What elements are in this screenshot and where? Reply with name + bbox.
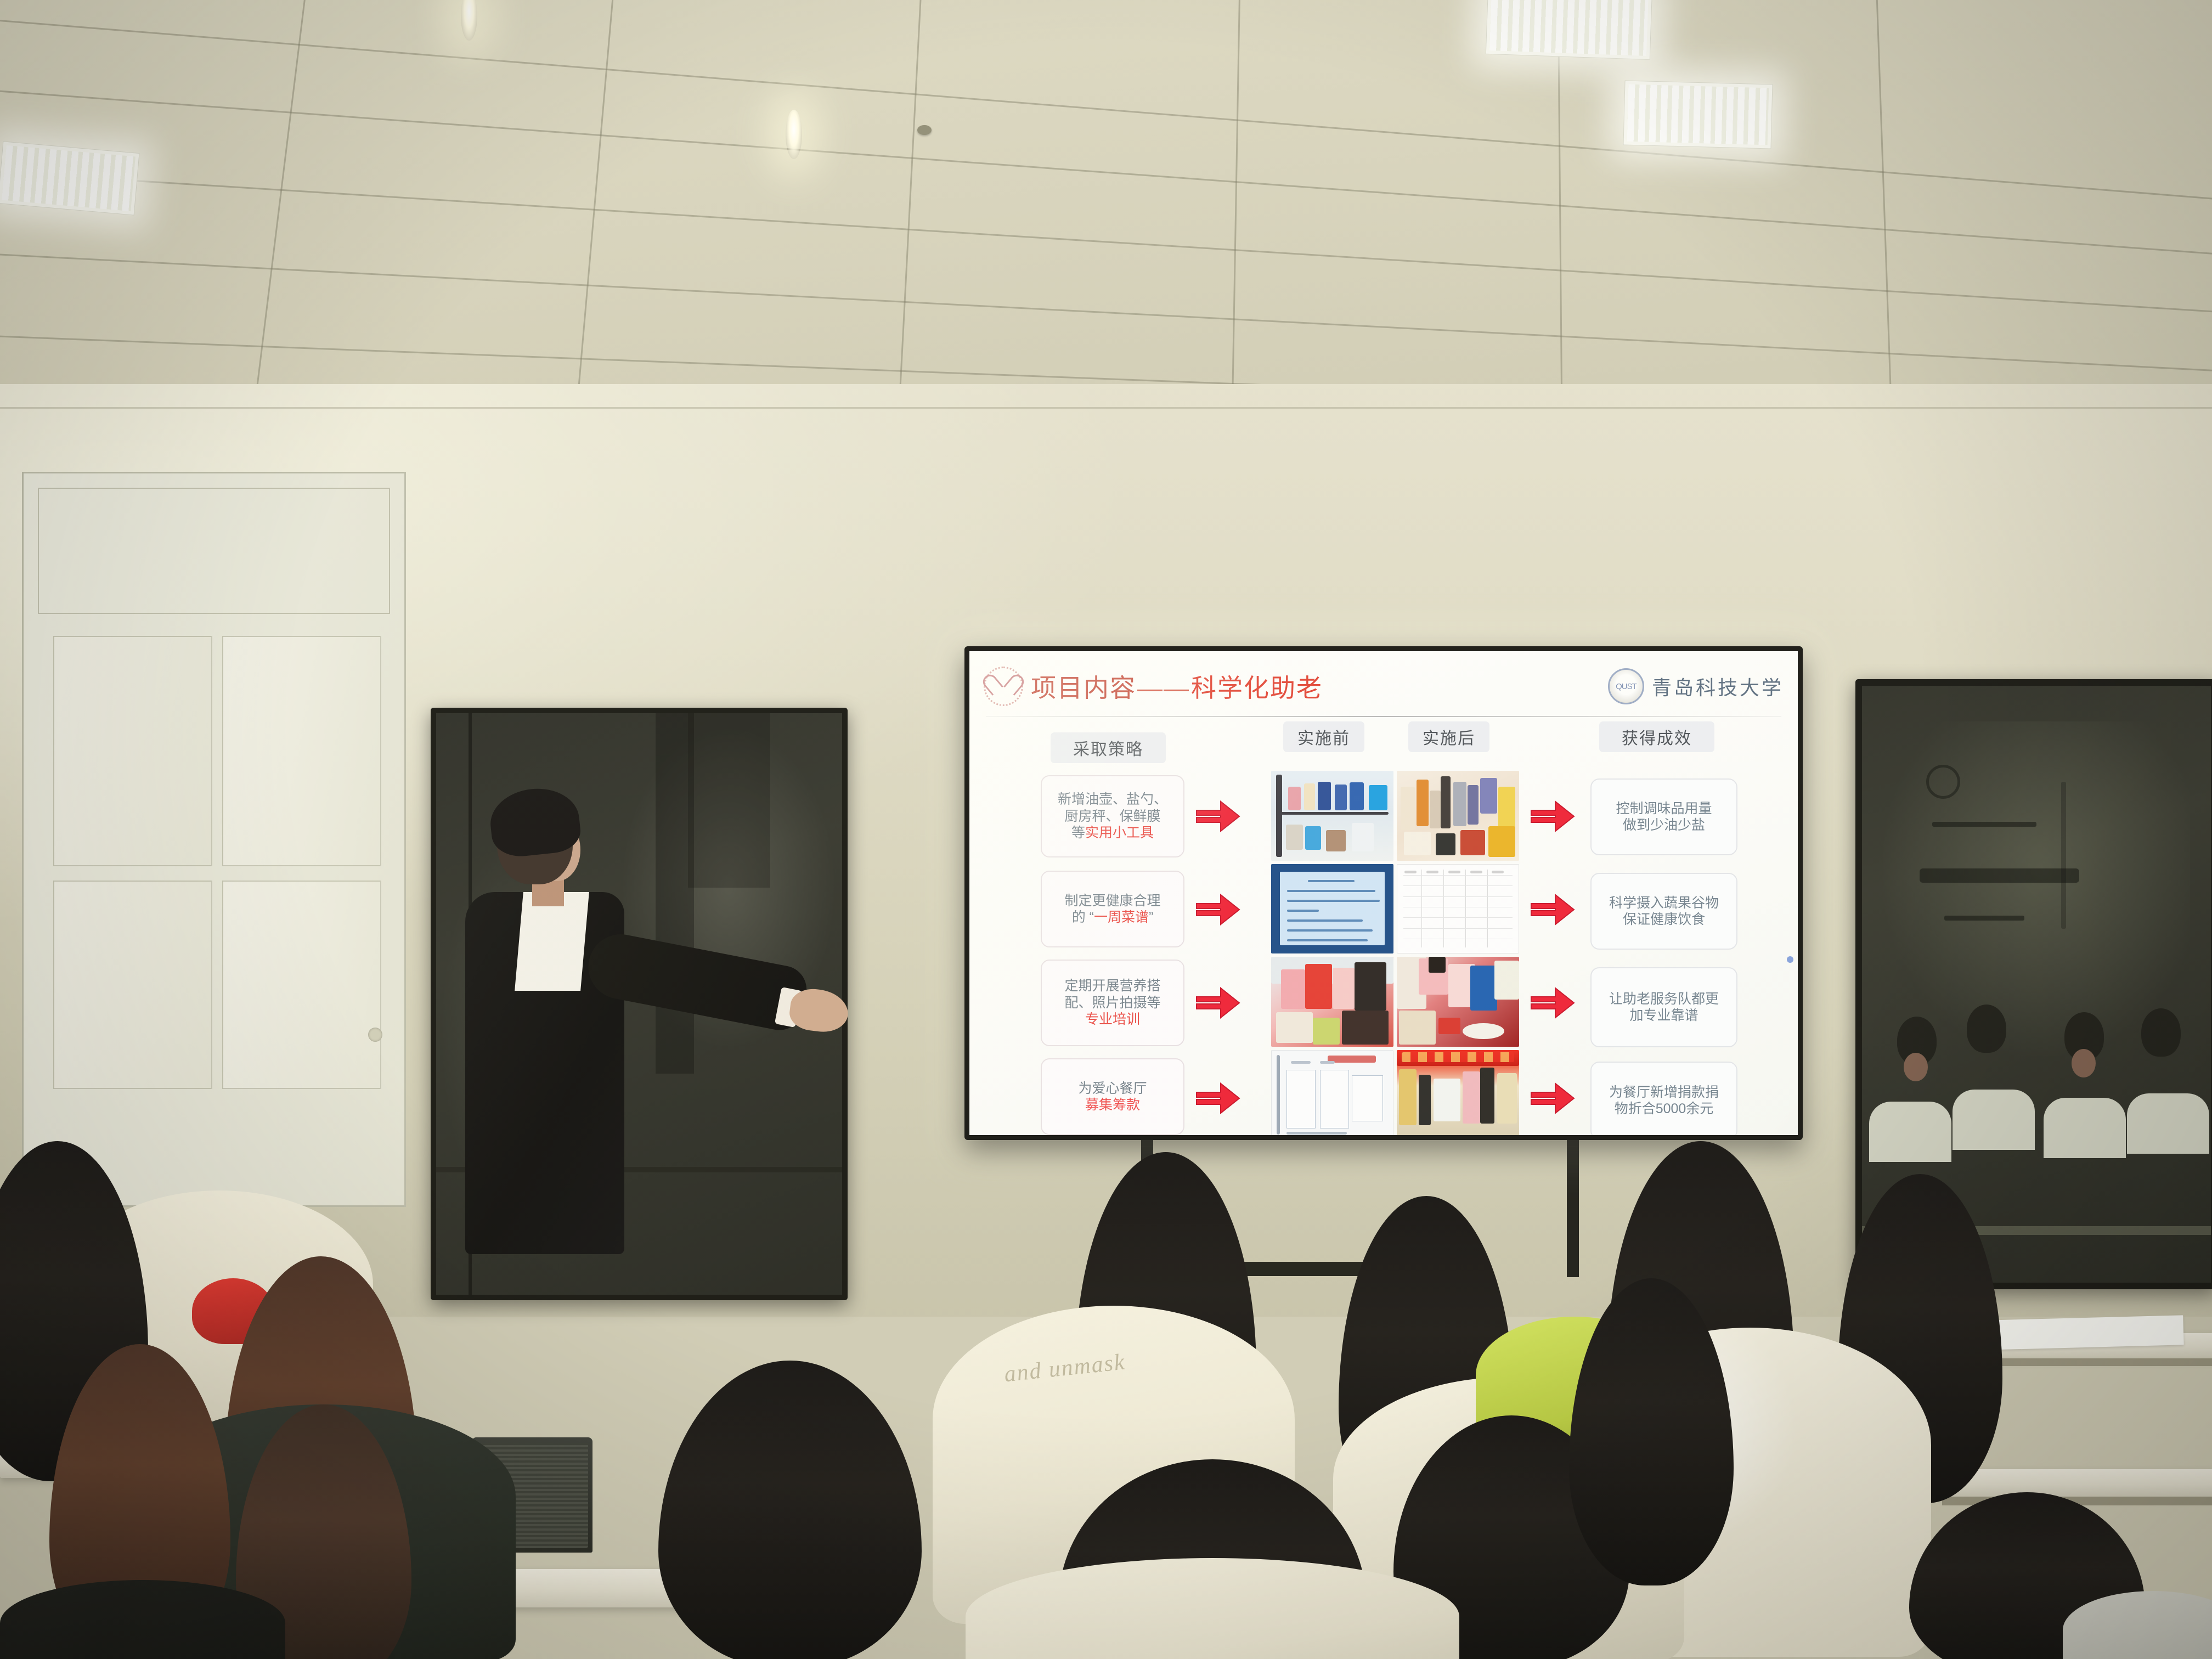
door-panel bbox=[222, 636, 381, 866]
strategy-line: 制定更健康合理 bbox=[1064, 893, 1160, 910]
result-card: 科学摄入蔬果谷物 保证健康饮食 bbox=[1590, 873, 1737, 950]
door-panel bbox=[222, 881, 381, 1089]
result-line: 科学摄入蔬果谷物 bbox=[1609, 895, 1719, 912]
right-arrow-icon bbox=[1195, 891, 1242, 928]
photo-group-event bbox=[1271, 957, 1393, 1047]
presenter bbox=[450, 785, 845, 1300]
slide-title-dash: —— bbox=[1137, 674, 1190, 702]
presenter-shirt bbox=[515, 892, 589, 991]
right-arrow-icon bbox=[1530, 891, 1576, 928]
strategy-card: 新增油壶、盐勺、 厨房秤、保鲜膜 等实用小工具 bbox=[1041, 775, 1184, 857]
panel-audience-reflection bbox=[1862, 996, 2211, 1199]
door-knob-icon[interactable] bbox=[368, 1028, 382, 1042]
strategy-emphasis: 一周菜谱 bbox=[1094, 910, 1149, 925]
tv-stand-leg bbox=[1567, 1140, 1579, 1277]
smoke-detector-icon bbox=[917, 125, 932, 135]
photo-volunteer-elder bbox=[1397, 957, 1519, 1047]
strategy-emphasis: 募集筹款 bbox=[1085, 1097, 1140, 1114]
photo-counter-items bbox=[1397, 771, 1519, 861]
right-arrow-icon bbox=[1195, 798, 1242, 834]
strategy-card: 为爱心餐厅 募集筹款 bbox=[1041, 1058, 1184, 1135]
slide-title-prefix: 项目内容 bbox=[1031, 674, 1136, 702]
whiteboard bbox=[1280, 872, 1385, 945]
strategy-line: 等 bbox=[1071, 825, 1085, 840]
photo-printed-menu-table bbox=[1397, 864, 1519, 954]
student-front-left bbox=[658, 1361, 922, 1659]
door-transom bbox=[38, 488, 390, 614]
door-panel bbox=[53, 881, 212, 1089]
strategy-line: 配、照片拍摄等 bbox=[1064, 995, 1160, 1012]
result-line: 物折合5000余元 bbox=[1615, 1101, 1714, 1118]
ceiling-spot-light bbox=[461, 0, 477, 41]
student-green-jacket bbox=[1569, 1278, 1734, 1585]
right-arrow-icon bbox=[1195, 1080, 1242, 1116]
column-header-after: 实施后 bbox=[1408, 721, 1489, 752]
slide: 项目内容——科学化助老 青岛科技大学 采取策略 实施前 实施后 获得成效 新增油… bbox=[969, 651, 1798, 1135]
hair bbox=[658, 1361, 922, 1659]
column-header-results: 获得成效 bbox=[1599, 721, 1714, 752]
photo-certificate bbox=[1271, 1050, 1393, 1136]
result-line: 加专业靠谱 bbox=[1629, 1007, 1698, 1024]
strategy-line: 的 “ bbox=[1072, 910, 1094, 925]
presenter-hand bbox=[788, 986, 850, 1035]
door-panel bbox=[53, 636, 212, 866]
ceiling-light-panel bbox=[0, 141, 139, 215]
result-line: 保证健康饮食 bbox=[1623, 911, 1705, 928]
result-card: 为餐厅新增捐款捐 物折合5000余元 bbox=[1590, 1062, 1737, 1135]
result-line: 为餐厅新增捐款捐 bbox=[1609, 1084, 1719, 1101]
heart-circle-icon bbox=[984, 667, 1023, 706]
presenter-hair bbox=[487, 785, 583, 859]
slide-title-main: 科学化助老 bbox=[1191, 674, 1323, 702]
column-header-before: 实施前 bbox=[1283, 721, 1364, 752]
slide-header: 项目内容——科学化助老 青岛科技大学 bbox=[984, 660, 1784, 713]
presentation-display: 项目内容——科学化助老 青岛科技大学 采取策略 实施前 实施后 获得成效 新增油… bbox=[964, 646, 1803, 1140]
photo-grid bbox=[1271, 771, 1519, 1135]
photo-blue-board-menu bbox=[1271, 864, 1393, 954]
ceiling-spot-light bbox=[786, 110, 802, 159]
classroom-door[interactable] bbox=[22, 472, 406, 1207]
ceiling-light-panel bbox=[1486, 0, 1652, 60]
strategy-line: ” bbox=[1149, 910, 1153, 925]
strategy-line: 为爱心餐厅 bbox=[1078, 1080, 1147, 1097]
university-name: 青岛科技大学 bbox=[1652, 672, 1784, 701]
column-header-strategy: 采取策略 bbox=[1051, 732, 1166, 763]
right-arrow-icon bbox=[1530, 985, 1576, 1021]
university-badge-icon bbox=[1608, 668, 1644, 704]
header-divider bbox=[986, 716, 1781, 717]
strategy-card: 定期开展营养搭 配、照片拍摄等 专业培训 bbox=[1041, 960, 1184, 1046]
panel-seal-icon bbox=[1926, 765, 1960, 799]
strategy-emphasis: 专业培训 bbox=[1085, 1011, 1140, 1028]
ceiling-light-panel bbox=[1623, 80, 1773, 149]
university-branding: 青岛科技大学 bbox=[1608, 668, 1784, 704]
slide-title: 项目内容——科学化助老 bbox=[1031, 668, 1323, 704]
right-arrow-icon bbox=[1530, 1080, 1576, 1116]
result-line: 做到少油少盐 bbox=[1623, 817, 1705, 834]
strategy-line: 新增油壶、盐勺、 bbox=[1058, 791, 1167, 808]
coat-black-front bbox=[0, 1580, 285, 1659]
classroom-photo-scene: 项目内容——科学化助老 青岛科技大学 采取策略 实施前 实施后 获得成效 新增油… bbox=[0, 0, 2212, 1659]
strategy-line: 厨房秤、保鲜膜 bbox=[1064, 808, 1160, 825]
right-arrow-icon bbox=[1195, 985, 1242, 1021]
strategy-card: 制定更健康合理 的 “一周菜谱” bbox=[1041, 871, 1184, 947]
hair bbox=[1569, 1278, 1734, 1585]
result-card: 控制调味品用量 做到少油少盐 bbox=[1590, 778, 1737, 855]
strategy-emphasis: 实用小工具 bbox=[1085, 825, 1154, 840]
result-line: 让助老服务队都更 bbox=[1609, 991, 1719, 1008]
photo-shelf-bottles bbox=[1271, 771, 1393, 861]
right-arrow-icon bbox=[1530, 798, 1576, 834]
photo-red-banner-shop bbox=[1397, 1050, 1519, 1136]
paper-sheet bbox=[1985, 1315, 2183, 1350]
result-line: 控制调味品用量 bbox=[1616, 800, 1712, 817]
ceiling bbox=[0, 0, 2212, 417]
strategy-line: 定期开展营养搭 bbox=[1064, 978, 1160, 995]
slide-page-indicator bbox=[1787, 956, 1793, 963]
result-card: 让助老服务队都更 加专业靠谱 bbox=[1590, 967, 1737, 1047]
